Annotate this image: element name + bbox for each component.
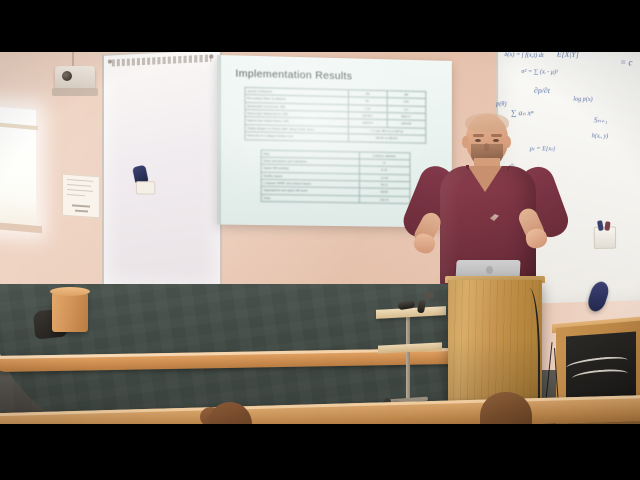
apple-logo-icon	[486, 266, 493, 274]
presenter-ear	[462, 136, 469, 148]
stool	[52, 290, 88, 332]
projector-lens-icon	[62, 71, 72, 81]
projector-icon	[55, 66, 95, 90]
audience-member-man	[460, 392, 556, 424]
letterbox-bar-bottom	[0, 424, 640, 480]
head	[208, 402, 252, 424]
equation-text: δ(x) = ∫ f(x,t) dt	[504, 52, 543, 59]
marker-holder-icon	[594, 226, 616, 249]
stool-seat	[50, 287, 90, 296]
presenter-brow	[491, 134, 502, 137]
lecture-hall-scene: Implementation Results Arrival of Report…	[0, 52, 640, 424]
equation-text: h(xᵢ, y)	[592, 133, 609, 139]
letterbox-bar-top	[0, 0, 640, 52]
cart-post	[406, 316, 410, 402]
projector-base	[52, 88, 98, 96]
marker-tray	[136, 181, 155, 194]
equation-text: Sₙ₊₁	[594, 115, 608, 124]
video-frame-container: Implementation Results Arrival of Report…	[0, 0, 640, 480]
presenter-eye	[475, 139, 481, 142]
presenter-ear	[504, 136, 511, 148]
whiteboard-pin	[209, 54, 213, 58]
equation-text: ∂p/∂t	[534, 86, 550, 96]
audience-member-woman	[186, 400, 274, 424]
equation-text: = c	[620, 57, 632, 67]
whiteboard-left-panel	[102, 52, 222, 292]
wall-notice-sign	[62, 174, 100, 219]
presenter-eye	[493, 139, 499, 142]
presenter-brow	[473, 134, 484, 137]
head	[480, 392, 532, 424]
equation-text: σ² = ∑ (xᵢ - μ)²	[521, 69, 558, 76]
equation-text: log p(x)	[573, 97, 592, 103]
equation-text: E[X|Y]	[557, 52, 579, 59]
whiteboard-left-header	[112, 54, 211, 66]
presenter-hair	[465, 113, 509, 132]
equation-text: p(θ)	[496, 101, 507, 107]
